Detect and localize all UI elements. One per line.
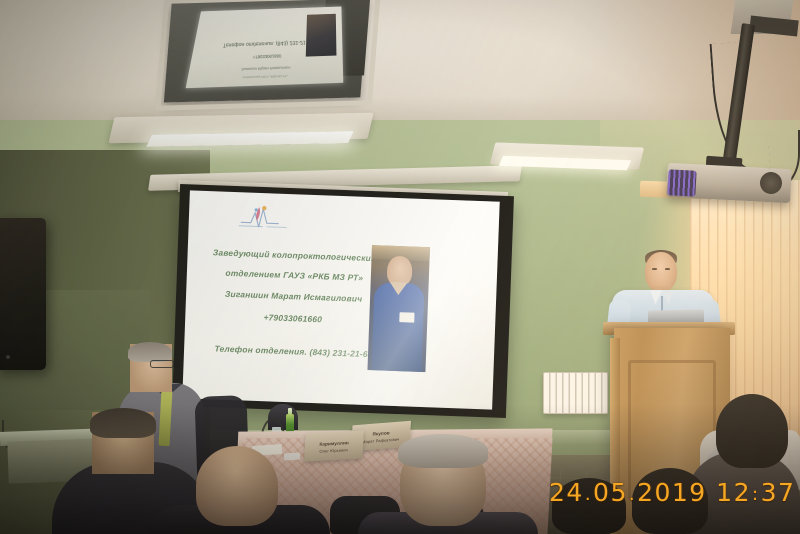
- audience-person-hair: [398, 434, 488, 468]
- clinic-logo-icon: [234, 200, 291, 232]
- wall-mounted-tv: [0, 218, 46, 370]
- timestamp-year: 2019: [637, 478, 707, 507]
- conference-room-photo: Телефон отделения. (843) 231-21-64 +7903…: [0, 0, 800, 534]
- timestamp-minute: 37: [761, 478, 796, 507]
- timestamp-time-separator: :: [751, 484, 761, 505]
- projection-screen: Заведующий колопроктологическим отделени…: [182, 190, 499, 409]
- audience-person-head: [716, 394, 788, 468]
- audience-person-head: [196, 446, 278, 526]
- projector-vent: [667, 169, 696, 196]
- timestamp-day: 24: [549, 478, 584, 507]
- audience-person-hair: [90, 408, 156, 438]
- speaker-eye-right: [665, 268, 670, 270]
- photo-scrubs: [371, 282, 424, 372]
- phone-on-table: [284, 452, 300, 460]
- audience-person-hair: [128, 342, 172, 362]
- wall-radiator: [543, 372, 608, 414]
- photo-name-badge: [399, 312, 414, 323]
- timestamp-date-separator: .: [584, 484, 593, 505]
- nameplate: Каримуллин Олег Юрьевич: [304, 431, 364, 462]
- nameplate-subtitle: Олег Юрьевич: [305, 446, 364, 454]
- camera-timestamp: 24.05.2019 12:37: [549, 478, 795, 507]
- timestamp-month: 05: [593, 478, 628, 507]
- timestamp-date-separator: .: [628, 484, 637, 505]
- ceiling-panel-frame: [155, 0, 380, 111]
- tv-power-led: [6, 355, 10, 359]
- speaker-eye-left: [652, 268, 657, 270]
- audience-person-glasses: [150, 360, 174, 368]
- timestamp-hour: 12: [716, 478, 751, 507]
- slide-doctor-photo: [367, 245, 430, 372]
